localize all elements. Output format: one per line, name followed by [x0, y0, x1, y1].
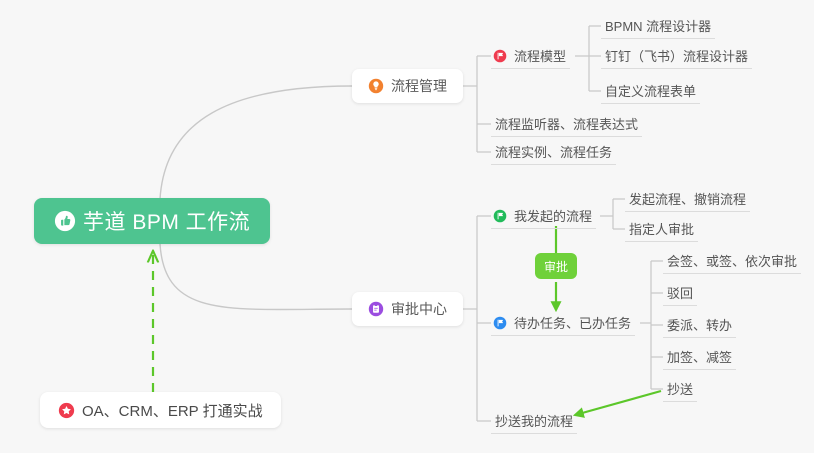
label-process-model: 流程模型	[514, 46, 566, 65]
label-my-initiated: 我发起的流程	[514, 206, 592, 225]
node-delegate-transfer[interactable]: 委派、转办	[663, 312, 736, 338]
label-cc-my-process: 抄送我的流程	[495, 411, 573, 430]
node-custom-process-form[interactable]: 自定义流程表单	[601, 78, 700, 104]
node-instance-task[interactable]: 流程实例、流程任务	[491, 139, 616, 165]
node-cc[interactable]: 抄送	[663, 376, 697, 402]
clipboard-icon	[368, 301, 384, 317]
label-custom-process-form: 自定义流程表单	[605, 81, 696, 100]
label-instance-task: 流程实例、流程任务	[495, 142, 612, 161]
node-cc-my-process[interactable]: 抄送我的流程	[491, 408, 577, 434]
approval-badge-label: 审批	[544, 258, 568, 275]
node-my-initiated[interactable]: 我发起的流程	[491, 203, 596, 229]
label-todo-done-tasks: 待办任务、已办任务	[514, 313, 631, 332]
node-todo-done-tasks[interactable]: 待办任务、已办任务	[491, 310, 635, 336]
node-process-model[interactable]: 流程模型	[491, 43, 570, 69]
integration-callout[interactable]: OA、CRM、ERP 打通实战	[40, 392, 281, 428]
branch-node-approval-center[interactable]: 审批中心	[352, 292, 463, 326]
flag-icon	[493, 209, 507, 223]
label-countersign: 会签、或签、依次审批	[667, 251, 797, 270]
node-dingtalk-feishu-designer[interactable]: 钉钉（飞书）流程设计器	[601, 43, 752, 69]
root-node[interactable]: 芋道 BPM 工作流	[34, 198, 270, 244]
label-reject: 驳回	[667, 283, 693, 302]
root-label: 芋道 BPM 工作流	[83, 206, 250, 236]
lightbulb-icon	[368, 78, 384, 94]
node-assigned-approval[interactable]: 指定人审批	[625, 216, 698, 242]
label-cc: 抄送	[667, 379, 693, 398]
thumbs-up-icon	[54, 210, 76, 232]
node-start-cancel[interactable]: 发起流程、撤销流程	[625, 186, 750, 212]
label-dingtalk-feishu-designer: 钉钉（飞书）流程设计器	[605, 46, 748, 65]
node-add-remove-sign[interactable]: 加签、减签	[663, 344, 736, 370]
branch-label-approval-center: 审批中心	[391, 299, 447, 319]
edge-root-to-approval-center	[160, 244, 352, 310]
label-bpmn-designer: BPMN 流程设计器	[605, 16, 711, 35]
node-listener-expression[interactable]: 流程监听器、流程表达式	[491, 111, 642, 137]
flag-icon	[493, 316, 507, 330]
label-add-remove-sign: 加签、减签	[667, 347, 732, 366]
mindmap-canvas: 芋道 BPM 工作流 流程管理 流程模型 流程监听器、流程表达式 流程实例、流	[0, 0, 814, 453]
label-assigned-approval: 指定人审批	[629, 219, 694, 238]
node-countersign[interactable]: 会签、或签、依次审批	[663, 248, 801, 274]
node-bpmn-designer[interactable]: BPMN 流程设计器	[601, 13, 715, 39]
integration-callout-label: OA、CRM、ERP 打通实战	[82, 400, 263, 421]
star-icon	[58, 402, 75, 419]
label-start-cancel: 发起流程、撤销流程	[629, 189, 746, 208]
node-reject[interactable]: 驳回	[663, 280, 697, 306]
branch-label-process-management: 流程管理	[391, 76, 447, 96]
branch-node-process-management[interactable]: 流程管理	[352, 69, 463, 103]
arrow-cc-to-ccmy	[575, 391, 661, 415]
edge-root-to-process-management	[160, 86, 352, 199]
approval-badge[interactable]: 审批	[535, 253, 577, 279]
label-delegate-transfer: 委派、转办	[667, 315, 732, 334]
label-listener-expression: 流程监听器、流程表达式	[495, 114, 638, 133]
flag-icon	[493, 49, 507, 63]
